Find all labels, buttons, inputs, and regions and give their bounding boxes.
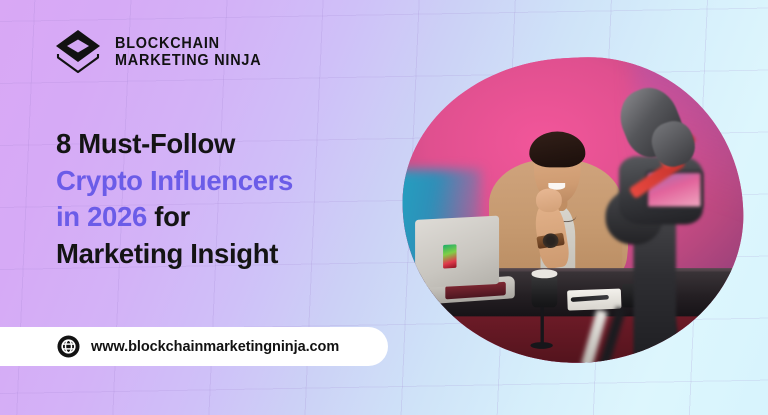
person-hair (530, 132, 585, 168)
laptop-lid (415, 215, 499, 288)
brand-logo-line2: MARKETING NINJA (115, 52, 261, 69)
headline-line-1: 8 Must-Follow (56, 128, 235, 159)
brand-logo-line1: BLOCKCHAIN (115, 35, 261, 52)
promo-banner: BLOCKCHAIN MARKETING NINJA 8 Must-Follow… (0, 0, 768, 415)
headline: 8 Must-Follow Crypto Influencers in 2026… (56, 126, 386, 272)
brand-logo-text: BLOCKCHAIN MARKETING NINJA (115, 35, 272, 70)
coffee-mug (531, 274, 558, 308)
brand-logo[interactable]: BLOCKCHAIN MARKETING NINJA (52, 26, 272, 78)
website-url-bar[interactable]: www.blockchainmarketingninja.com (0, 327, 388, 366)
headline-line-4: Marketing Insight (56, 238, 278, 269)
hero-photo (395, 49, 750, 371)
website-url-text: www.blockchainmarketingninja.com (91, 339, 339, 355)
person-fist (536, 188, 563, 212)
laptop-sticker (444, 244, 458, 269)
globe-icon (57, 335, 80, 358)
coffee-mug-rim (531, 270, 558, 278)
headline-line-2-accent: Crypto Influencers (56, 165, 293, 196)
headline-line-3-rest: for (154, 201, 190, 232)
blockchain-diamond-logo-icon (52, 26, 104, 78)
microphone-stand (541, 306, 544, 344)
headline-line-3-accent: in 2026 (56, 201, 147, 232)
hero-photo-scene (395, 49, 750, 371)
